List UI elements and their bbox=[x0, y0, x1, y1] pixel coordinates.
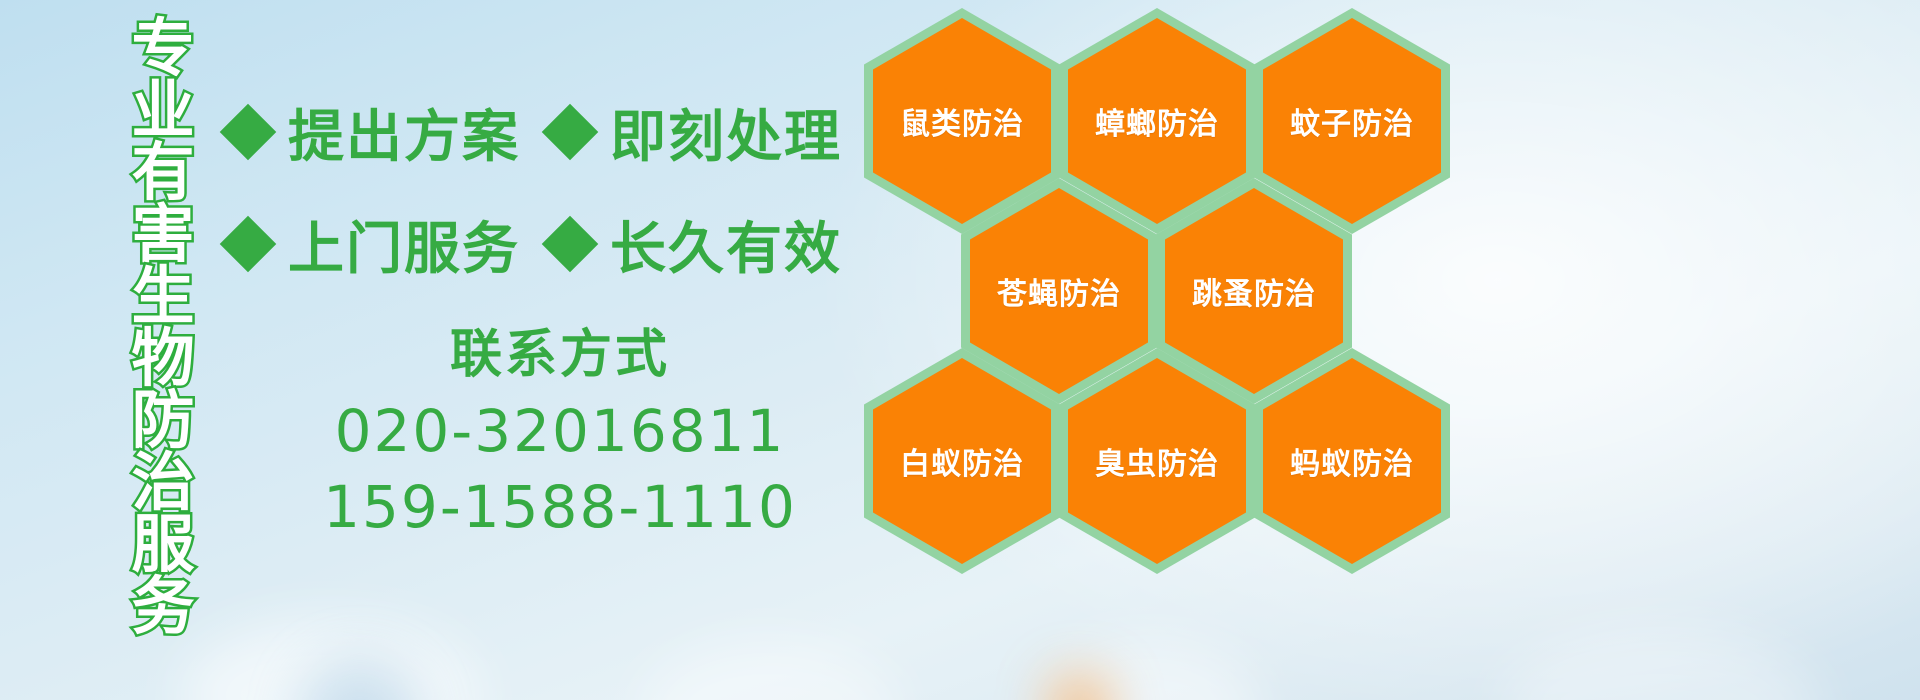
hex-tile-label: 蚊子防治 bbox=[1290, 99, 1414, 143]
service-item-label: 上门服务 bbox=[288, 204, 520, 285]
decorative-blob bbox=[640, 640, 900, 700]
hex-tile-label: 蚂蚁防治 bbox=[1290, 439, 1414, 483]
hex-tile-label: 跳蚤防治 bbox=[1192, 269, 1316, 313]
service-hexagon-grid: 鼠类防治 蟑螂防治 蚊子防治 苍蝇防治 跳蚤防治 白蚁防治 bbox=[862, 0, 1482, 560]
service-item-onsite: 上门服务 bbox=[228, 204, 520, 285]
service-row: 上门服务 长久有效 bbox=[228, 188, 868, 300]
vertical-headline-char: 生 bbox=[132, 266, 195, 328]
decorative-blob bbox=[1040, 640, 1260, 700]
service-item-immediate: 即刻处理 bbox=[550, 92, 842, 173]
service-item-proposal: 提出方案 bbox=[228, 92, 520, 173]
hex-tile-label: 蟑螂防治 bbox=[1095, 99, 1219, 143]
contact-block: 联系方式 020-32016811 159-1588-1110 bbox=[300, 312, 820, 545]
diamond-icon bbox=[220, 216, 277, 273]
contact-title: 联系方式 bbox=[300, 312, 820, 387]
decorative-blob bbox=[300, 660, 420, 700]
service-item-longlasting: 长久有效 bbox=[550, 204, 842, 285]
vertical-headline-char: 治 bbox=[132, 452, 195, 514]
vertical-headline: 专 业 有 害 生 物 防 治 服 务 bbox=[108, 18, 218, 578]
hex-tile-ant[interactable]: 蚂蚁防治 bbox=[1254, 348, 1450, 574]
vertical-headline-char: 业 bbox=[132, 80, 195, 142]
diamond-icon bbox=[220, 104, 277, 161]
diamond-icon bbox=[542, 216, 599, 273]
hex-tile-label: 鼠类防治 bbox=[900, 99, 1024, 143]
pest-control-banner: 专 业 有 害 生 物 防 治 服 务 提出方案 即刻处理 上门服务 bbox=[0, 0, 1920, 700]
hex-tile-termite[interactable]: 白蚁防治 bbox=[864, 348, 1060, 574]
hex-tile-label: 臭虫防治 bbox=[1095, 439, 1219, 483]
hex-tile-bedbug[interactable]: 臭虫防治 bbox=[1059, 348, 1255, 574]
decorative-blob-orange bbox=[1050, 676, 1110, 700]
hex-tile-label: 白蚁防治 bbox=[900, 439, 1024, 483]
hex-tile-label: 苍蝇防治 bbox=[997, 269, 1121, 313]
vertical-headline-char: 务 bbox=[132, 576, 195, 638]
diamond-icon bbox=[542, 104, 599, 161]
contact-phone-landline[interactable]: 020-32016811 bbox=[300, 393, 820, 469]
decorative-blob bbox=[180, 620, 480, 700]
service-row: 提出方案 即刻处理 bbox=[228, 76, 868, 188]
service-item-label: 长久有效 bbox=[610, 204, 842, 285]
vertical-headline-char: 有 bbox=[132, 142, 195, 204]
vertical-headline-char: 物 bbox=[132, 328, 195, 390]
vertical-headline-char: 害 bbox=[132, 204, 195, 266]
vertical-headline-char: 服 bbox=[132, 514, 195, 576]
vertical-headline-char: 专 bbox=[132, 18, 195, 80]
vertical-headline-char: 防 bbox=[132, 390, 195, 452]
contact-phone-mobile[interactable]: 159-1588-1110 bbox=[300, 469, 820, 545]
service-item-label: 即刻处理 bbox=[610, 92, 842, 173]
service-feature-list: 提出方案 即刻处理 上门服务 长久有效 bbox=[228, 76, 868, 300]
service-item-label: 提出方案 bbox=[288, 92, 520, 173]
decorative-blob bbox=[1500, 630, 1820, 700]
